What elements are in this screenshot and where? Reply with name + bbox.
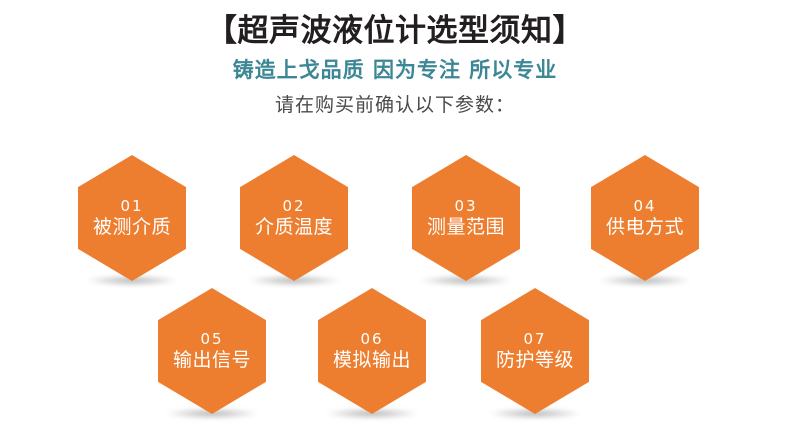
hexagon-item-03[interactable]: 03测量范围 bbox=[412, 155, 520, 281]
hexagon-shape-icon bbox=[240, 155, 348, 281]
hexagon-shape-icon bbox=[158, 288, 266, 414]
hexagon-shape-icon bbox=[78, 155, 186, 281]
hexagon-shape-icon bbox=[591, 155, 699, 281]
infographic-page: 【超声波液位计选型须知】 铸造上戈品质 因为专注 所以专业 请在购买前确认以下参… bbox=[0, 0, 790, 448]
hexagon-grid: 01被测介质02介质温度03测量范围04供电方式05输出信号06模拟输出07防护… bbox=[0, 0, 790, 448]
hexagon-item-05[interactable]: 05输出信号 bbox=[158, 288, 266, 414]
hexagon-shape-icon bbox=[412, 155, 520, 281]
hexagon-shape-icon bbox=[481, 288, 589, 414]
hexagon-item-04[interactable]: 04供电方式 bbox=[591, 155, 699, 281]
hexagon-item-01[interactable]: 01被测介质 bbox=[78, 155, 186, 281]
hexagon-shape-icon bbox=[318, 288, 426, 414]
hexagon-item-06[interactable]: 06模拟输出 bbox=[318, 288, 426, 414]
hexagon-item-02[interactable]: 02介质温度 bbox=[240, 155, 348, 281]
hexagon-item-07[interactable]: 07防护等级 bbox=[481, 288, 589, 414]
